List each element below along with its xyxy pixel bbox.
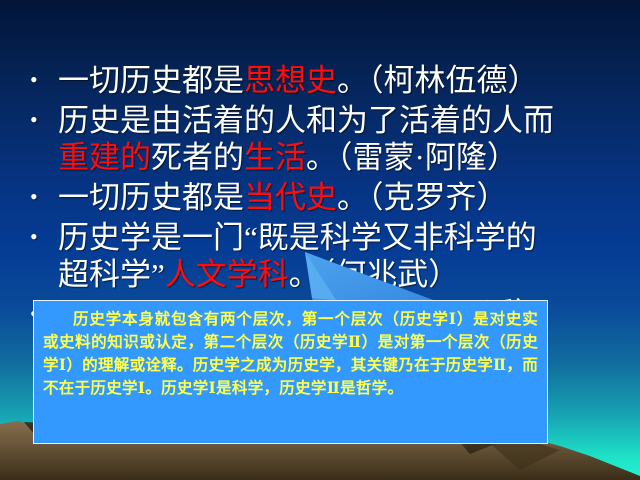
- bullet-3-seg-2: 当代史: [244, 180, 337, 215]
- bullet-2-seg-2: 重建的: [58, 140, 151, 175]
- bullet-item-3: 一切历史都是当代史。（克罗齐）: [28, 179, 628, 216]
- bullet-1-seg-2: 思想史: [244, 63, 337, 98]
- bullet-2-seg-5: 。（雷蒙·阿隆）: [306, 140, 518, 175]
- bullet-3-seg-3: 。（克罗齐）: [337, 180, 508, 215]
- callout-box: 历史学本身就包含有两个层次，第一个层次（历史学Ⅰ）是对史实或史料的知识或认定，第…: [33, 300, 548, 444]
- slide-canvas: 一切历史都是思想史。（柯林伍德） 历史是由活着的人和为了活着的人而 重建的死者的…: [0, 0, 640, 480]
- bullet-3-line-1: 一切历史都是当代史。（克罗齐）: [54, 179, 628, 216]
- callout-body-text: 历史学本身就包含有两个层次，第一个层次（历史学Ⅰ）是对史实或史料的知识或认定，第…: [43, 308, 538, 400]
- bullet-4-seg-2: 超科学”: [58, 257, 165, 292]
- bullet-item-2: 历史是由活着的人和为了活着的人而 重建的死者的生活。（雷蒙·阿隆）: [28, 102, 628, 176]
- bullet-3-seg-1: 一切历史都是: [58, 180, 244, 215]
- bullet-1-seg-3: 。（柯林伍德）: [337, 63, 539, 98]
- bullet-2-seg-1: 历史是由活着的人和为了活着的人而: [58, 103, 554, 138]
- bullet-2-line-1: 历史是由活着的人和为了活着的人而: [54, 102, 628, 139]
- bullet-item-1: 一切历史都是思想史。（柯林伍德）: [28, 62, 628, 99]
- bullet-2-line-2: 重建的死者的生活。（雷蒙·阿隆）: [54, 139, 628, 176]
- bullet-2-seg-4: 生活: [244, 140, 306, 175]
- bullet-1-line-1: 一切历史都是思想史。（柯林伍德）: [54, 62, 628, 99]
- bullet-4-seg-3: 人文学科: [165, 257, 289, 292]
- bullet-1-seg-1: 一切历史都是: [58, 63, 244, 98]
- bullet-2-seg-3: 死者的: [151, 140, 244, 175]
